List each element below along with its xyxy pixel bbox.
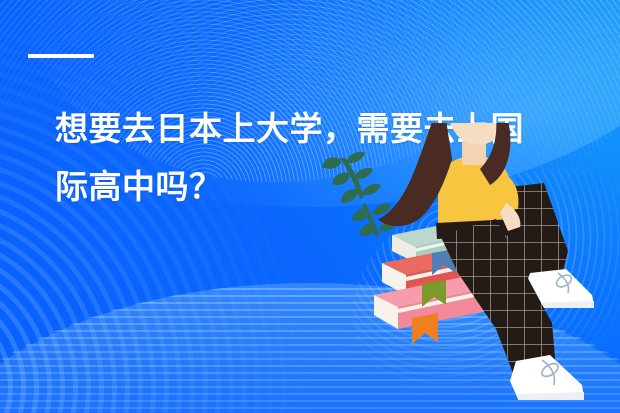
shoe-front — [510, 355, 584, 400]
student-illustration — [320, 123, 620, 413]
accent-rule — [28, 54, 94, 58]
orange-bookmark — [412, 313, 438, 344]
promo-banner: 想要去日本上大学，需要去上国 际高中吗？ — [0, 0, 620, 413]
